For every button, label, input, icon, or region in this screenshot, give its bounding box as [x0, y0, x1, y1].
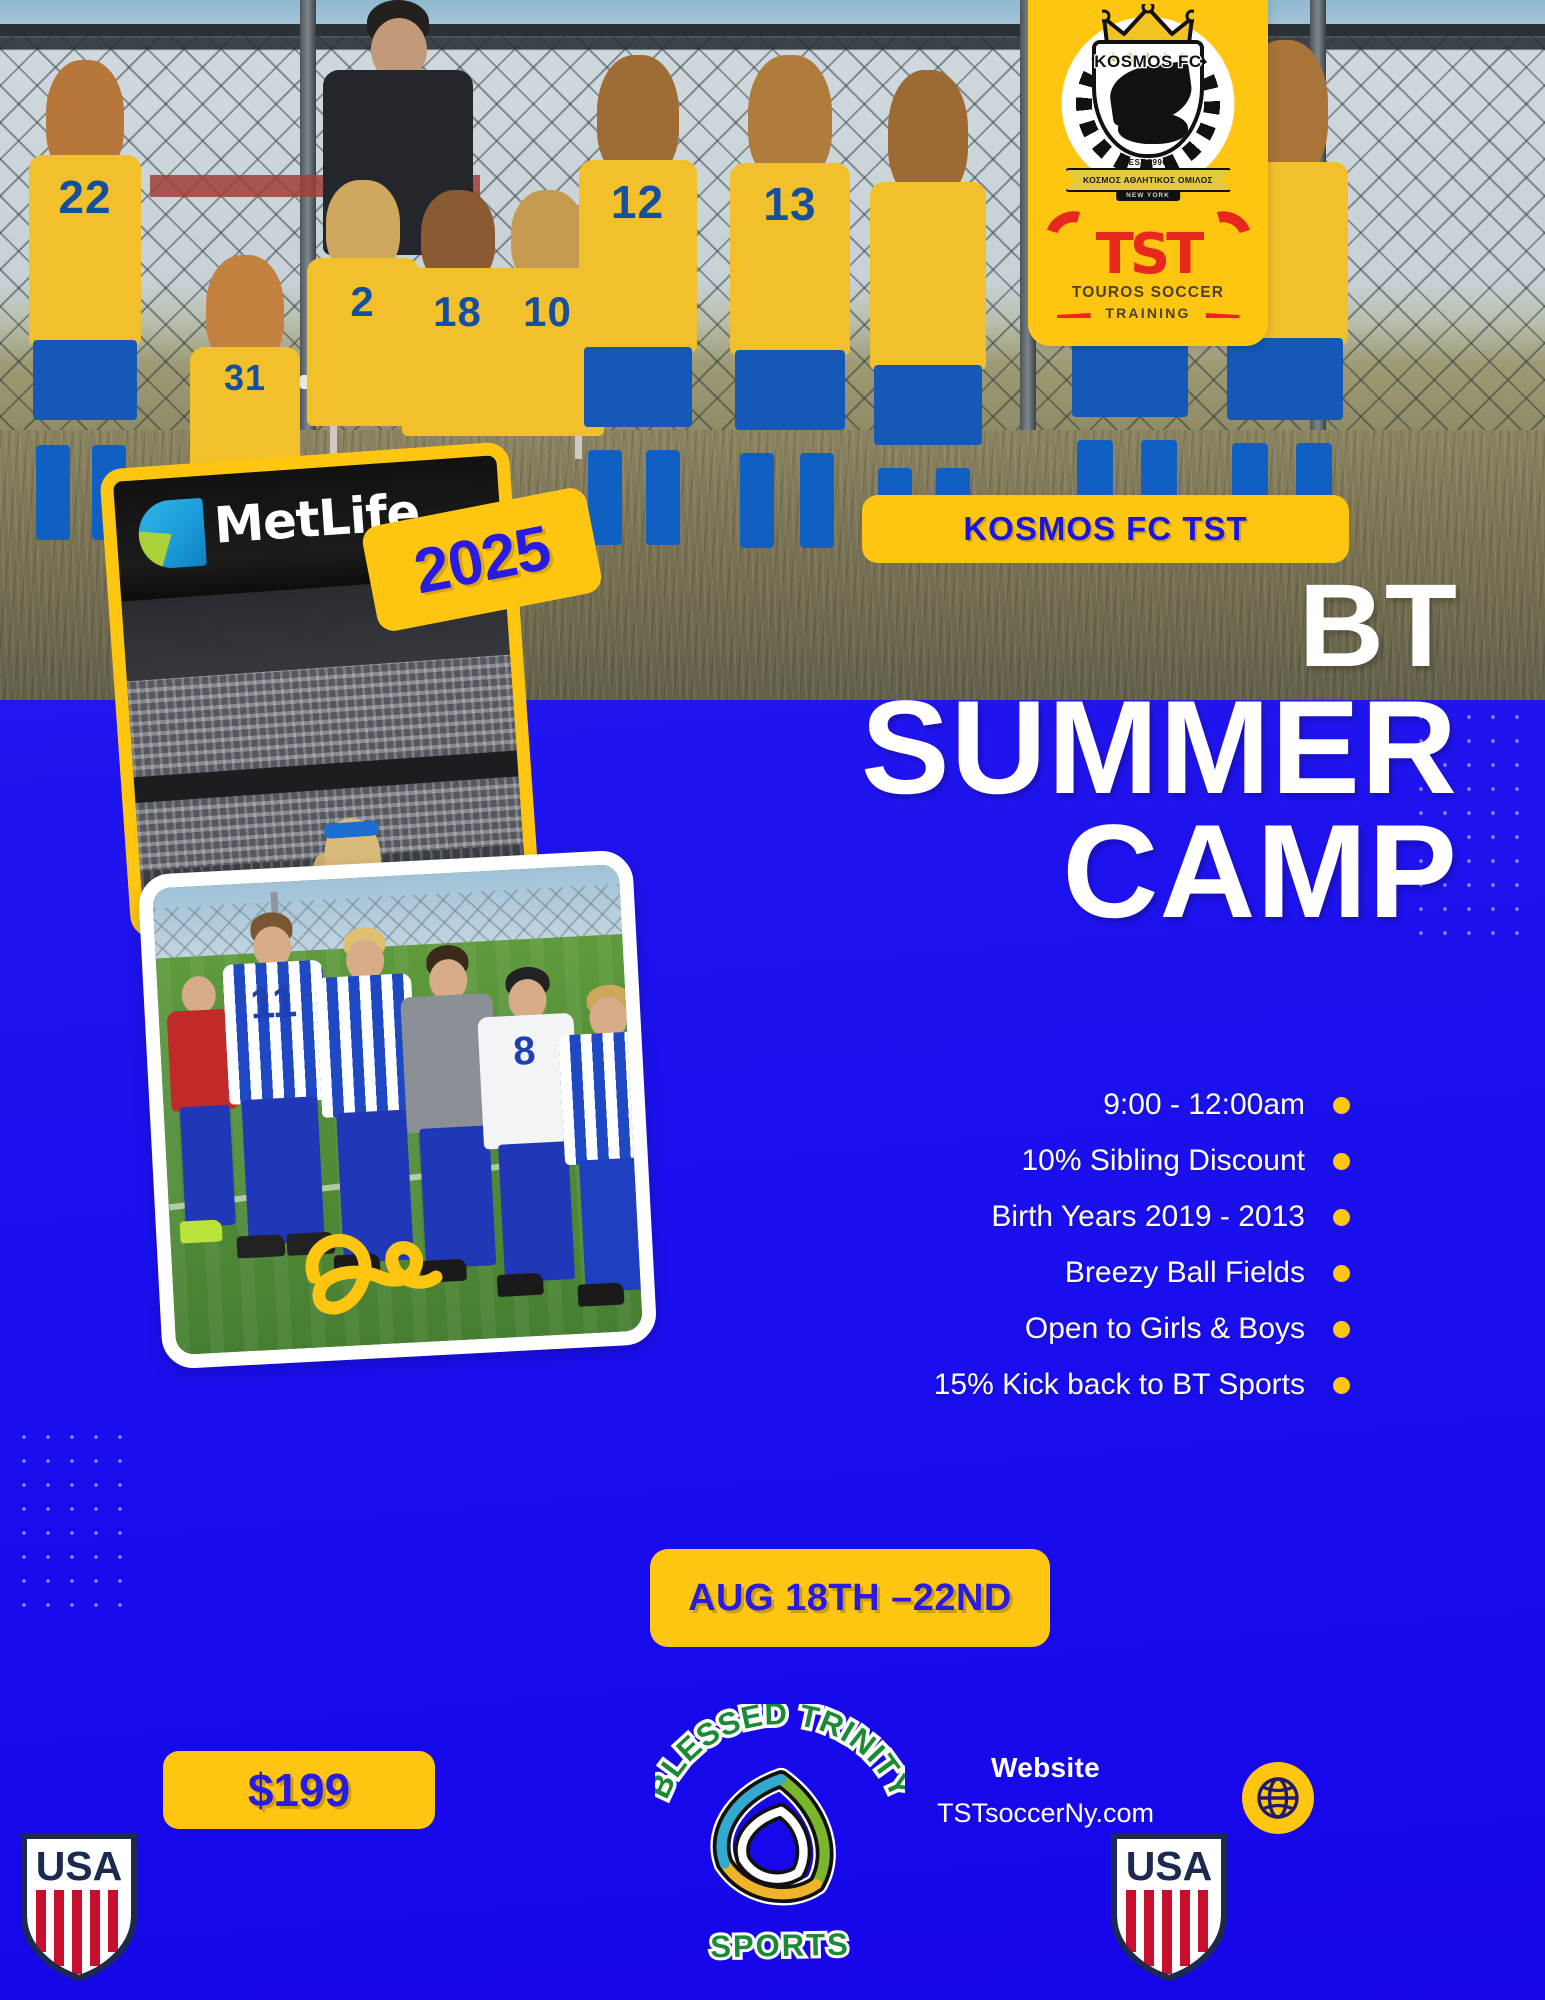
feature-label: Breezy Ball Fields: [1065, 1256, 1305, 1290]
page-title: BT SUMMER CAMP: [520, 572, 1520, 933]
bullet-dot-icon: [1333, 1265, 1350, 1282]
bullet-dot-icon: [1333, 1097, 1350, 1114]
website-block: Website TSTsoccerNy.com: [878, 1752, 1213, 1829]
globe-glyph: [1255, 1775, 1301, 1821]
boys-team-photo-card: 11 8: [137, 849, 657, 1369]
bullet-dot-icon: [1333, 1209, 1350, 1226]
usa-crest-icon: USA: [1108, 1832, 1230, 1982]
usa-soccer-crest-right: USA: [1108, 1832, 1230, 1982]
partner-bottom-label: SPORTS: [655, 1926, 906, 1966]
camp-dates-label: AUG 18TH –22ND: [688, 1577, 1012, 1620]
crest-established: EST.1996: [1061, 158, 1236, 167]
bullet-dot-icon: [1333, 1321, 1350, 1338]
list-item: 10% Sibling Discount: [620, 1144, 1350, 1178]
player-figure: [860, 70, 995, 540]
feature-label: Open to Girls & Boys: [1025, 1312, 1305, 1346]
list-item: Breezy Ball Fields: [620, 1256, 1350, 1290]
website-label: Website: [878, 1752, 1213, 1784]
bullet-dot-icon: [1333, 1377, 1350, 1394]
jersey-number: 31: [224, 357, 266, 399]
player-figure: 12: [570, 55, 705, 525]
list-item: Open to Girls & Boys: [620, 1312, 1350, 1346]
jersey-number: 8: [512, 1029, 537, 1075]
jersey-number: 11: [249, 977, 298, 1029]
list-item: 15% Kick back to BT Sports: [620, 1368, 1350, 1402]
jersey-number: 2: [350, 278, 374, 326]
tst-monogram: TST: [1041, 222, 1256, 287]
player-figure: 13: [720, 55, 860, 525]
tst-logo-icon: TST TOUROS SOCCER TRAINING: [1041, 210, 1256, 342]
feature-label: 10% Sibling Discount: [1022, 1144, 1306, 1178]
website-url[interactable]: TSTsoccerNy.com: [878, 1798, 1213, 1829]
list-item: 9:00 - 12:00am: [620, 1088, 1350, 1122]
tst-name-line2: TRAINING: [1041, 305, 1256, 321]
summer-camp-flyer: 22 31 2 18 10: [0, 0, 1545, 2000]
triquetra-knot-icon: [705, 1766, 857, 1916]
tst-name-line1: TOUROS SOCCER: [1041, 284, 1256, 302]
crest-club-name: KOSMOS FC: [1061, 52, 1236, 72]
crest-location: NEW YORK: [1116, 190, 1180, 201]
crest-swoosh-lower: [1118, 112, 1188, 144]
usa-crest-icon: USA: [18, 1832, 140, 1982]
bullet-dot-icon: [1333, 1153, 1350, 1170]
feature-label: 15% Kick back to BT Sports: [934, 1368, 1305, 1402]
club-logo-card: ★ ★ ★ ★ ★ KOSMOS FC EST.1996 ΚΟΣΜΟΣ ΑΘΛΗ…: [1028, 0, 1268, 346]
globe-icon[interactable]: [1242, 1762, 1314, 1834]
list-item: Birth Years 2019 - 2013: [620, 1200, 1350, 1234]
feature-label: Birth Years 2019 - 2013: [991, 1200, 1305, 1234]
crest-ribbon-text: ΚΟΣΜΟΣ ΑΘΛΗΤΙΚΟΣ ΟΜΙΛΟΣ: [1083, 175, 1213, 185]
usa-crest-label: USA: [1126, 1843, 1213, 1889]
player-figure: 22: [20, 60, 150, 530]
title-line-camp: CAMP: [520, 811, 1458, 933]
jersey-number: 18: [433, 288, 482, 336]
dot-pattern-left: [12, 1425, 130, 1615]
jersey-number: 13: [763, 177, 816, 231]
jersey-number: 10: [523, 288, 572, 336]
kosmos-fc-crest-icon: ★ ★ ★ ★ ★ KOSMOS FC EST.1996 ΚΟΣΜΟΣ ΑΘΛΗ…: [1061, 6, 1236, 204]
crest-ribbon: ΚΟΣΜΟΣ ΑΘΛΗΤΙΚΟΣ ΟΜΙΛΟΣ: [1065, 168, 1232, 192]
price-badge: $199: [163, 1751, 435, 1829]
title-line-summer: SUMMER: [520, 687, 1458, 809]
team-name-label: KOSMOS FC TST: [963, 510, 1247, 548]
blessed-trinity-sports-logo: BLESSED TRINITY SPORTS: [655, 1704, 905, 1994]
price-label: $199: [248, 1763, 350, 1817]
jersey-number: 12: [611, 175, 664, 229]
camp-dates-badge: AUG 18TH –22ND: [650, 1549, 1050, 1647]
player-figure: [556, 982, 658, 1307]
camp-features-list: 9:00 - 12:00am 10% Sibling Discount Birt…: [620, 1088, 1350, 1424]
team-name-badge: KOSMOS FC TST: [862, 495, 1349, 563]
jersey-number: 22: [58, 170, 111, 224]
usa-crest-label: USA: [36, 1843, 123, 1889]
feature-label: 9:00 - 12:00am: [1103, 1088, 1305, 1122]
usa-soccer-crest-left: USA: [18, 1832, 140, 1982]
title-line-bt: BT: [520, 572, 1458, 681]
